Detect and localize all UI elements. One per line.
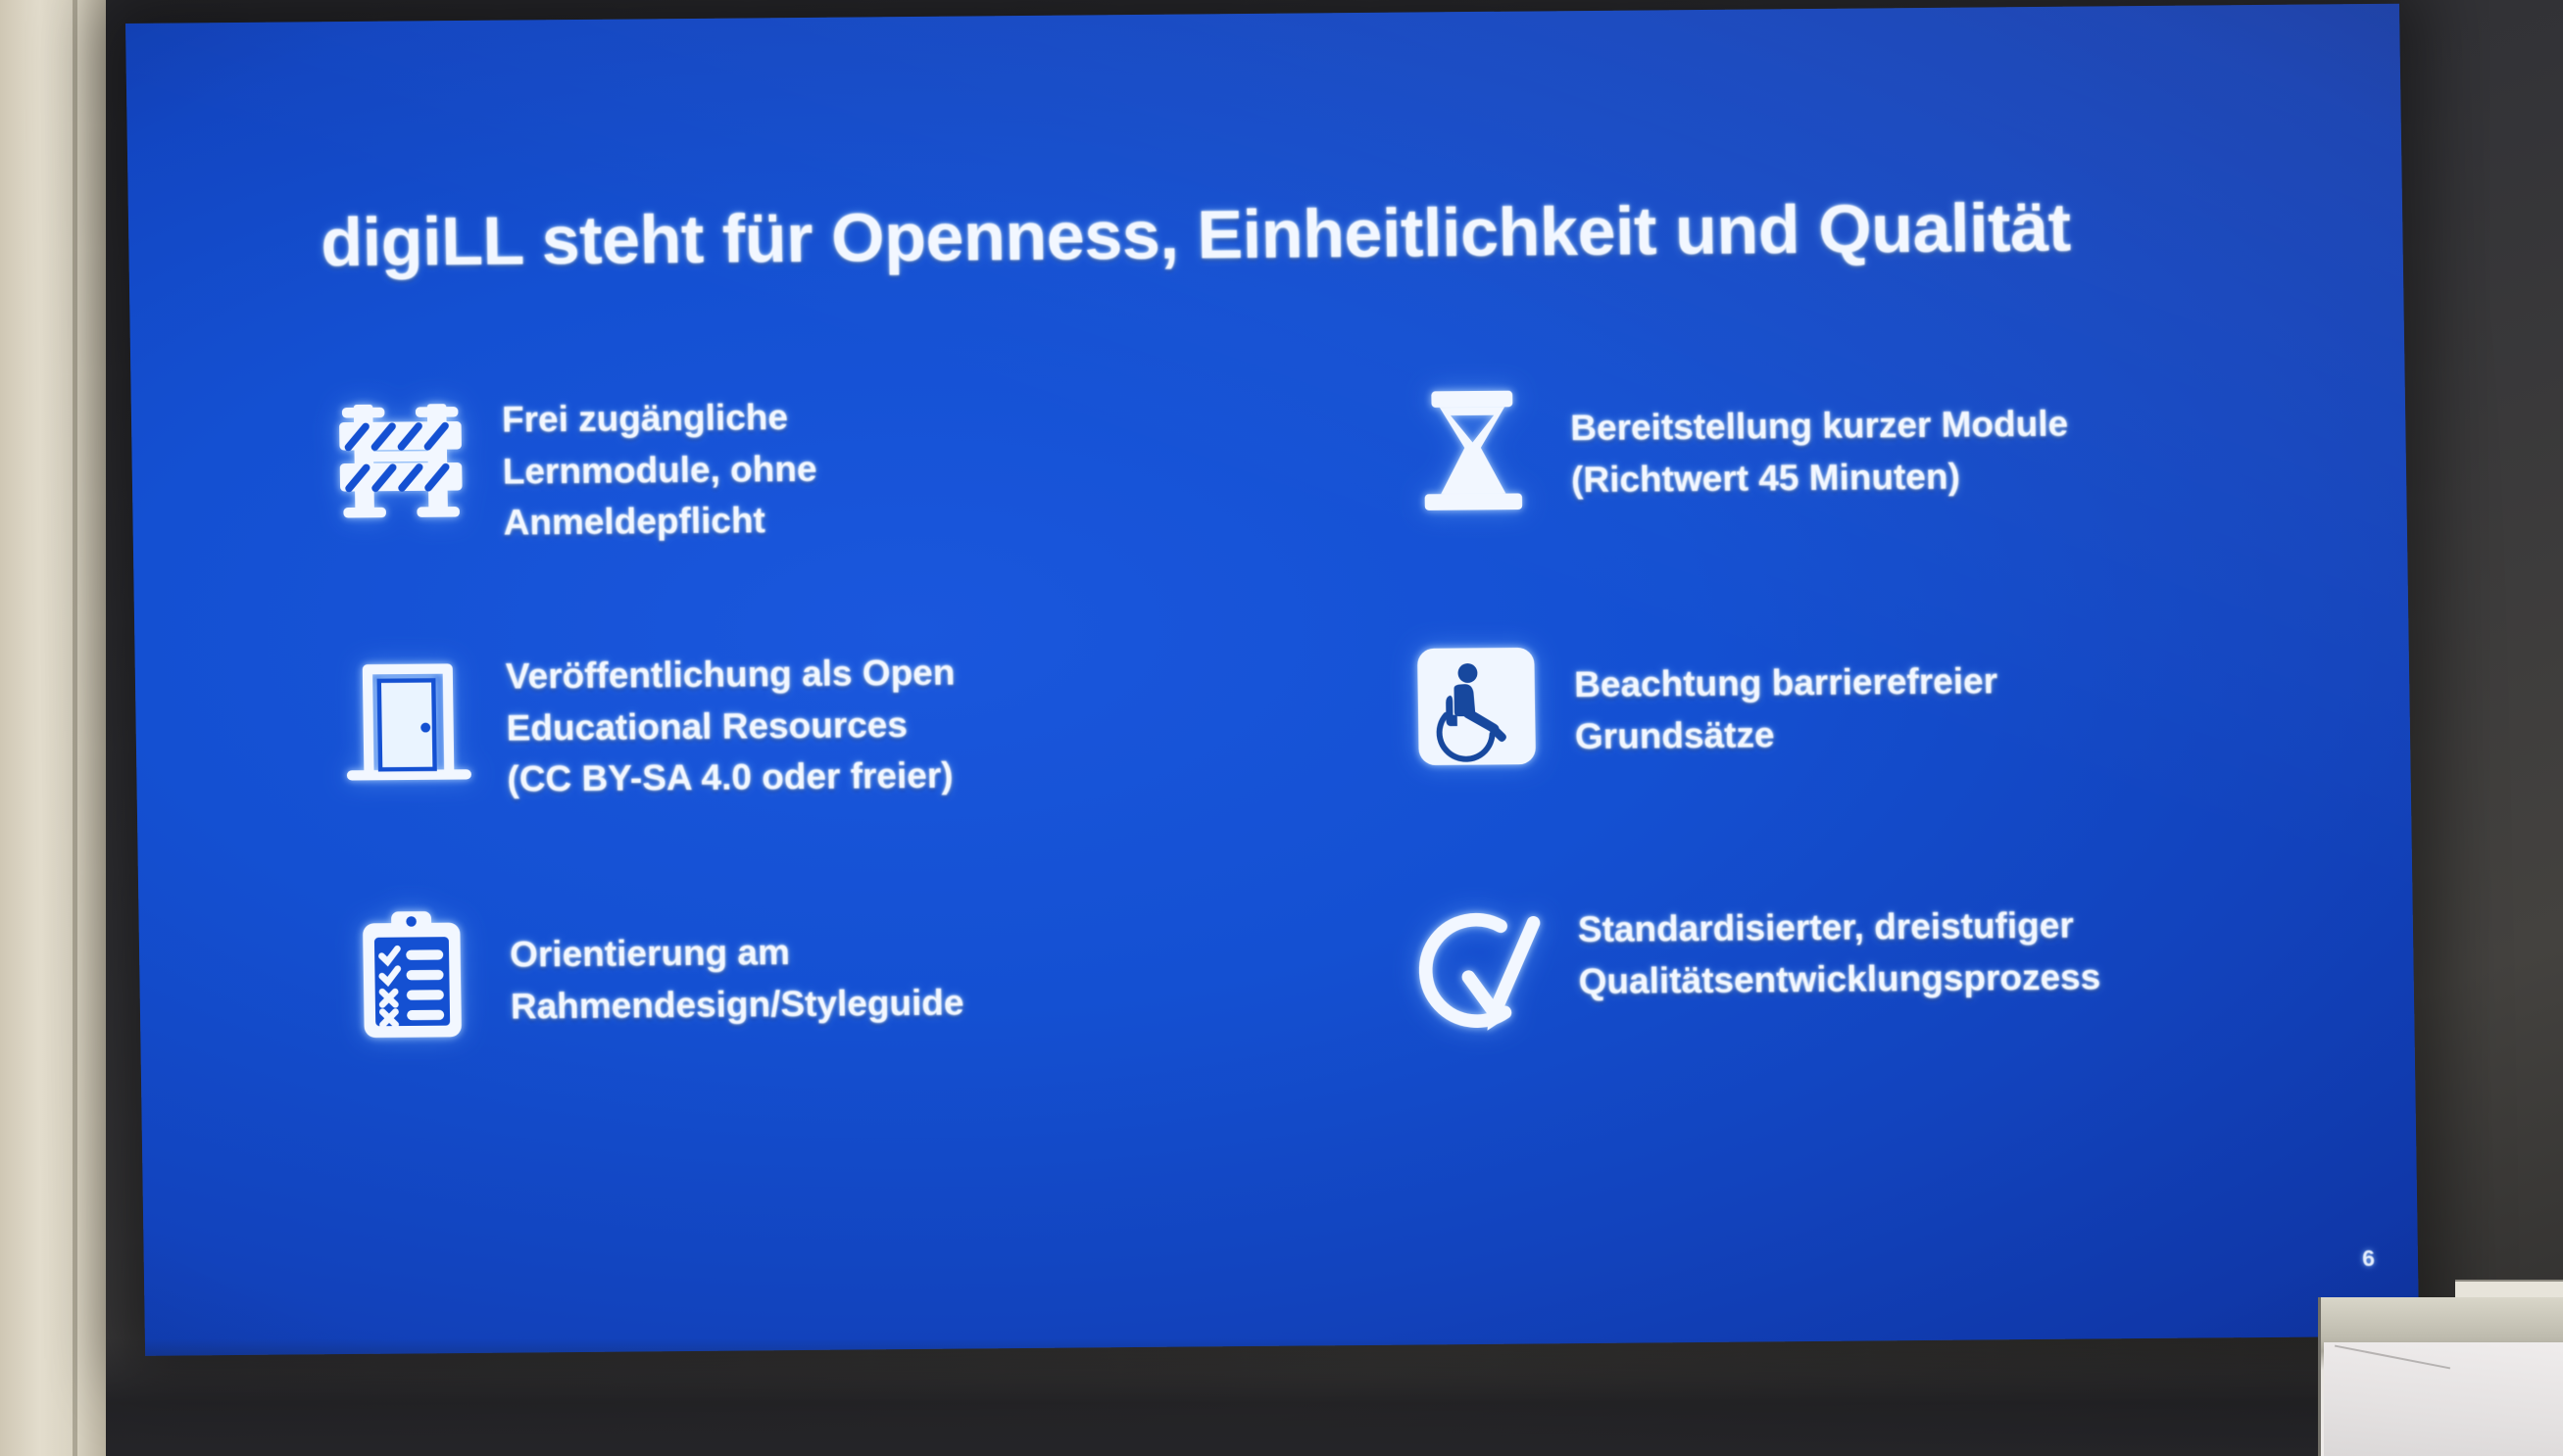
wall-seam — [73, 0, 77, 1456]
wall-strip — [0, 0, 106, 1456]
left-column: Frei zugängliche Lernmodule, ohne Anmeld… — [305, 376, 1238, 1154]
page-title: digiLL steht für Openness, Einheitlichke… — [320, 188, 2071, 282]
road-barrier-icon — [305, 383, 503, 538]
projected-presentation-photo: digiLL steht für Openness, Einheitlichke… — [0, 0, 2563, 1456]
flipchart-paper — [2324, 1342, 2563, 1456]
list-item: Frei zugängliche Lernmodule, ohne Anmeld… — [305, 376, 1230, 641]
list-item: Orientierung am Rahmendesign/Styleguide — [313, 890, 1238, 1154]
list-item-text: Veröffentlichung als Open Educational Re… — [505, 636, 957, 806]
list-item-line: Rahmendesign/Styleguide — [511, 977, 964, 1033]
list-item-text: Orientierung am Rahmendesign/Styleguide — [509, 893, 964, 1033]
right-column: Bereitstellung kurzer Module (Richtwert … — [1373, 367, 2306, 1145]
list-item-text: Standardisierter, dreistufiger Qualitäts… — [1577, 882, 2100, 1007]
list-item-text: Beachtung barrierefreier Grundsätze — [1573, 626, 1998, 762]
wheelchair-accessibility-icon — [1377, 630, 1575, 777]
list-item-line: Lernmodule, ohne — [502, 443, 816, 497]
circular-arrow-checkmark-icon — [1381, 887, 1579, 1043]
open-door-icon — [309, 640, 507, 791]
list-item: Veröffentlichung als Open Educational Re… — [309, 633, 1234, 898]
list-item: Standardisierter, dreistufiger Qualitäts… — [1381, 881, 2306, 1145]
flipchart-board — [2318, 1280, 2563, 1456]
list-item-line: Grundsätze — [1575, 707, 1999, 762]
list-item-line: (CC BY-SA 4.0 oder freier) — [507, 751, 957, 806]
list-item-line: Educational Resources — [506, 699, 956, 754]
list-item-line: Veröffentlichung als Open — [506, 648, 956, 704]
feature-columns: Frei zugängliche Lernmodule, ohne Anmeld… — [305, 367, 2306, 1155]
slide-number: 6 — [2362, 1245, 2375, 1272]
list-item: Bereitstellung kurzer Module (Richtwert … — [1373, 367, 2298, 632]
hourglass-icon — [1373, 373, 1571, 516]
list-item-line: Standardisierter, dreistufiger — [1578, 899, 2100, 955]
list-item-line: Beachtung barrierefreier — [1574, 655, 1998, 710]
list-item-line: Orientierung am — [510, 926, 963, 982]
list-item-text: Frei zugängliche Lernmodule, ohne Anmeld… — [501, 380, 817, 549]
list-item: Beachtung barrierefreier Grundsätze — [1377, 624, 2302, 889]
list-item-line: Frei zugängliche — [502, 392, 816, 446]
slide-canvas: digiLL steht für Openness, Einheitlichke… — [125, 4, 2419, 1356]
list-item-line: Anmeldepflicht — [503, 495, 817, 549]
projected-slide: digiLL steht für Openness, Einheitlichke… — [125, 4, 2419, 1356]
list-item-line: (Richtwert 45 Minuten) — [1571, 450, 2070, 506]
list-item-line: Bereitstellung kurzer Module — [1570, 399, 2069, 455]
list-item-text: Bereitstellung kurzer Module (Richtwert … — [1569, 369, 2069, 506]
list-item-line: Qualitätsentwicklungsprozess — [1578, 951, 2100, 1007]
screen-bottom-shadow — [106, 1338, 2563, 1456]
clipboard-checklist-icon — [313, 897, 511, 1047]
